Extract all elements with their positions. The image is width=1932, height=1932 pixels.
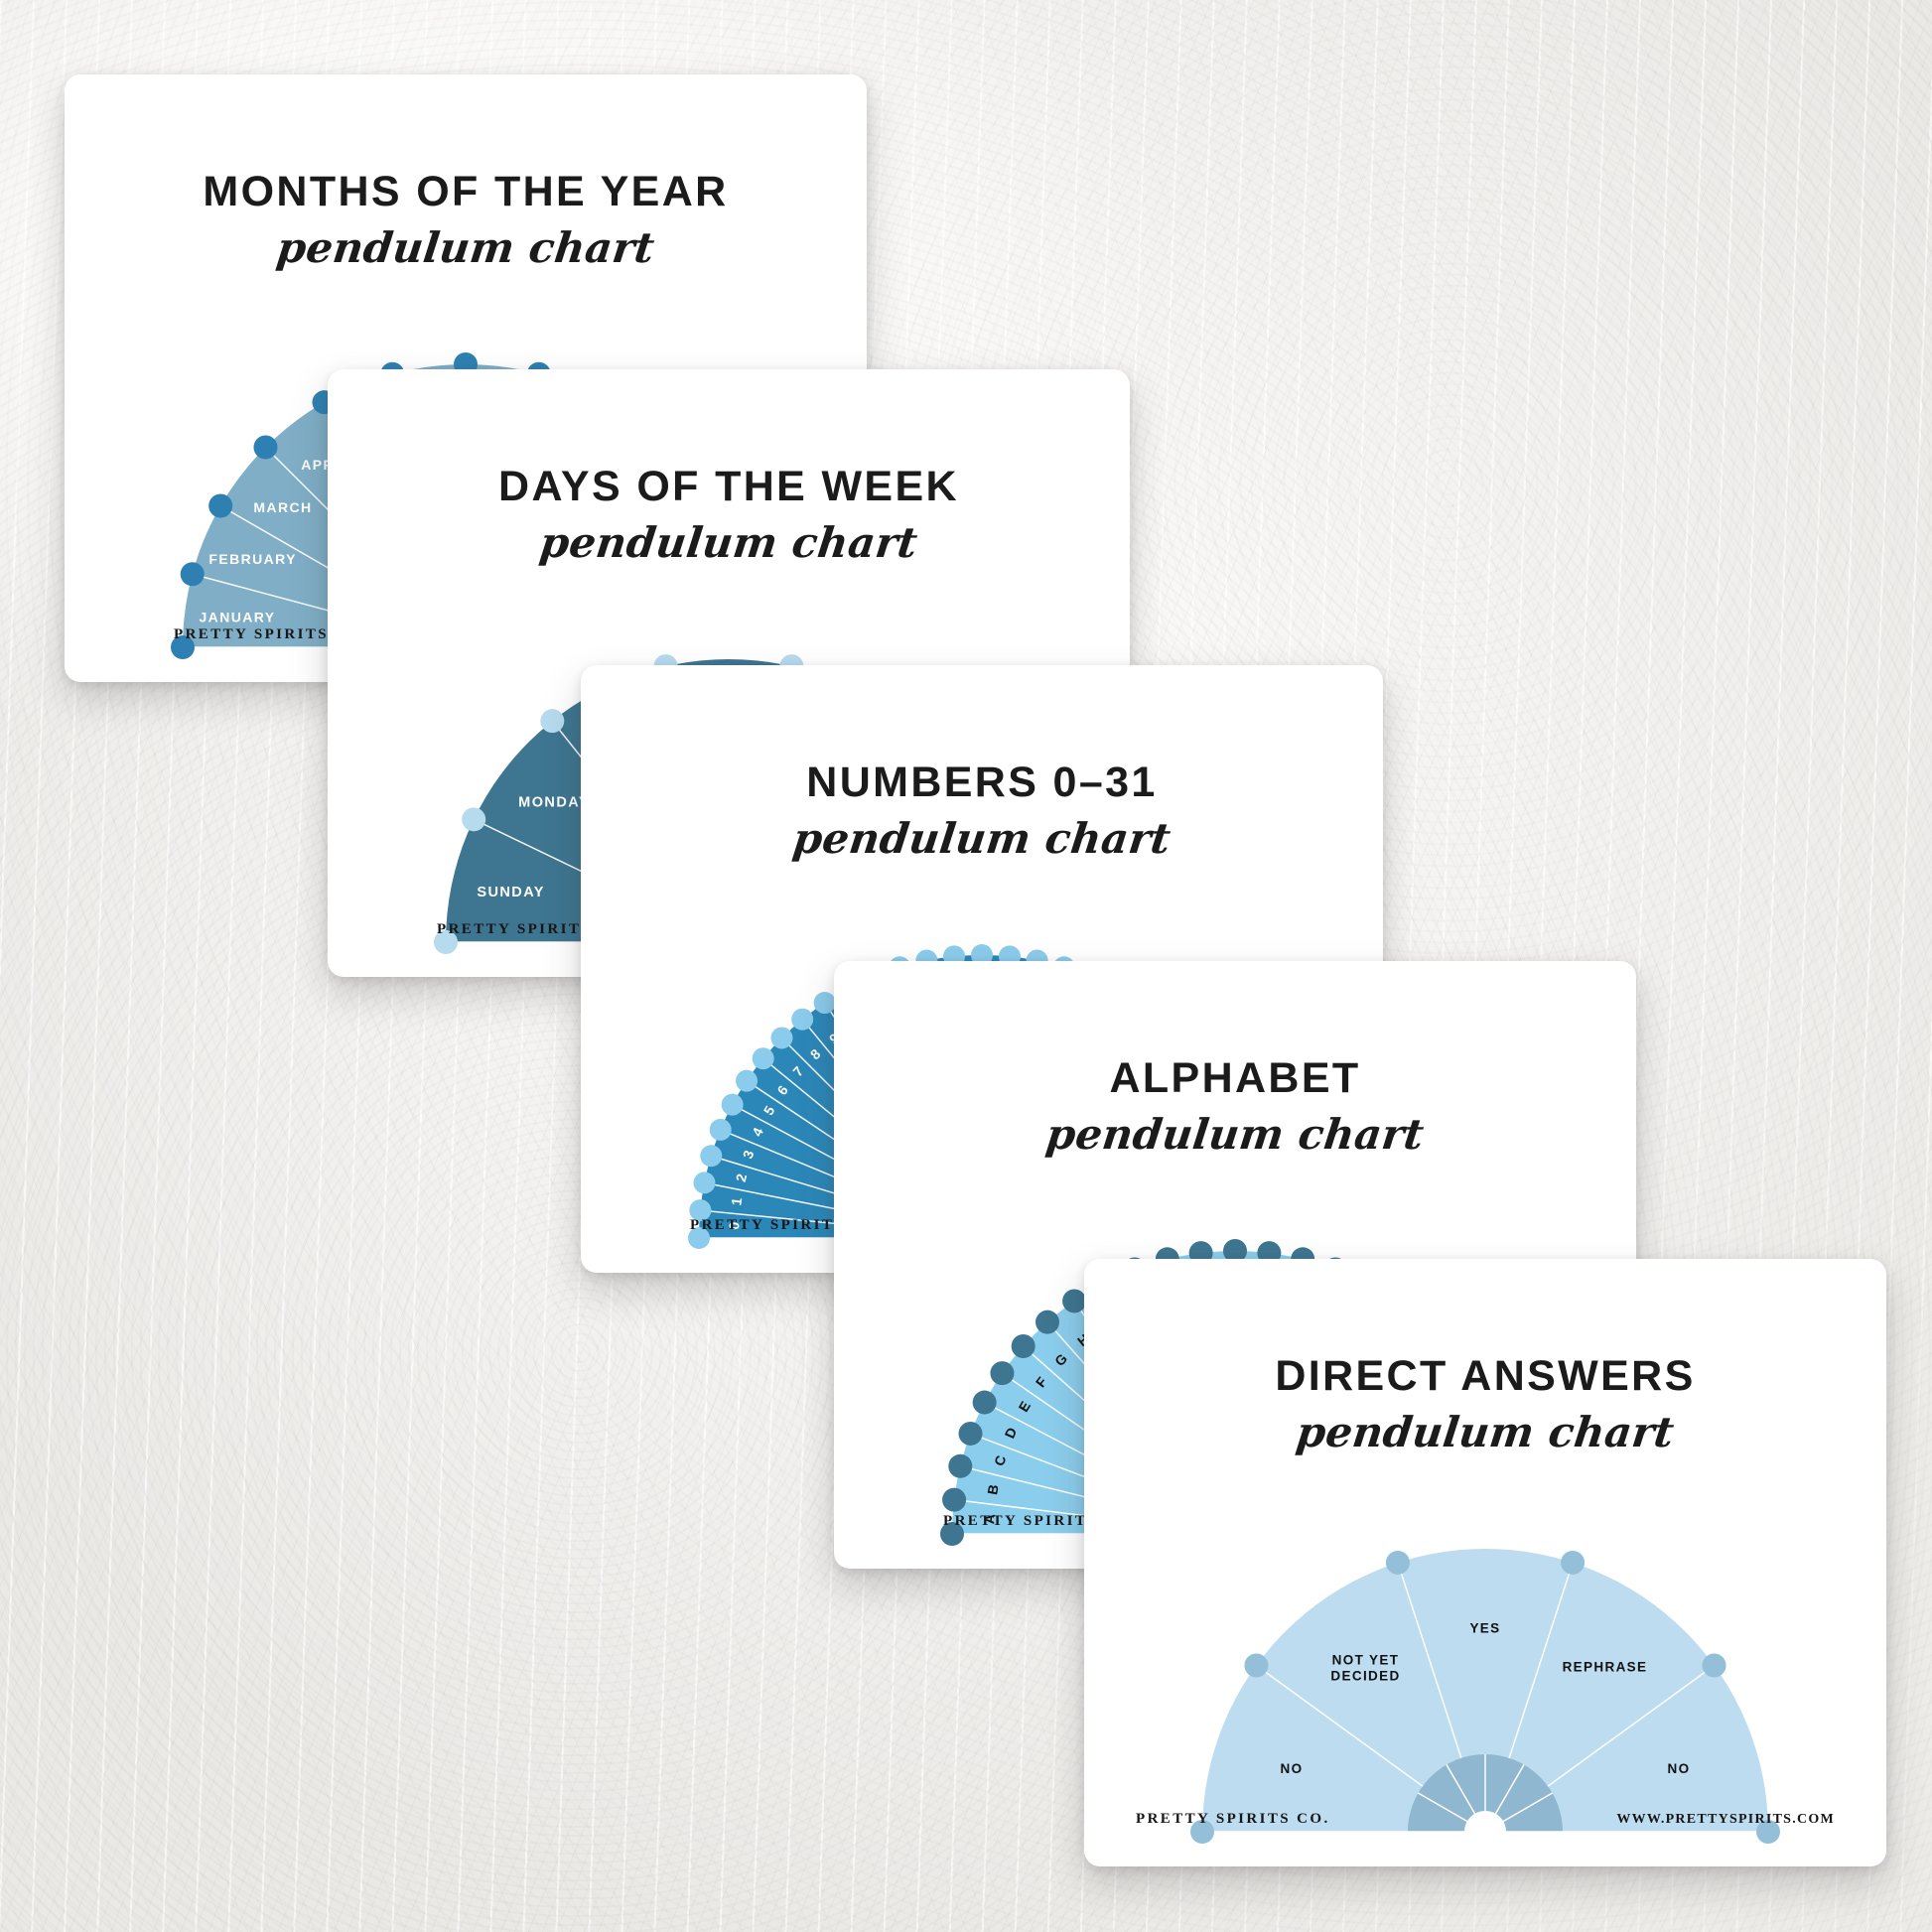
card-answers-footer-website: WWW.PRETTYSPIRITS.COM bbox=[1616, 1812, 1835, 1828]
card-months-title: MONTHS OF THE YEAR bbox=[65, 168, 867, 216]
card-answers-subtitle: pendulum chart bbox=[1084, 1408, 1886, 1456]
card-numbers-subtitle: pendulum chart bbox=[581, 814, 1383, 863]
svg-text:JANUARY: JANUARY bbox=[200, 610, 276, 625]
card-numbers-title: NUMBERS 0–31 bbox=[581, 759, 1383, 807]
svg-text:NO: NO bbox=[1281, 1761, 1304, 1776]
svg-text:NOT YETDECIDED: NOT YETDECIDED bbox=[1330, 1652, 1400, 1683]
card-answers-footer-brand: PRETTY SPIRITS CO. bbox=[1136, 1811, 1330, 1828]
card-answers-title: DIRECT ANSWERS bbox=[1084, 1352, 1886, 1401]
svg-text:YES: YES bbox=[1469, 1621, 1500, 1636]
svg-text:FEBRUARY: FEBRUARY bbox=[208, 551, 296, 567]
svg-text:MONDAY: MONDAY bbox=[518, 795, 590, 811]
svg-text:SUNDAY: SUNDAY bbox=[477, 885, 545, 900]
svg-text:MARCH: MARCH bbox=[253, 499, 312, 515]
svg-text:REPHRASE: REPHRASE bbox=[1563, 1660, 1648, 1675]
card-alphabet-title: ALPHABET bbox=[834, 1054, 1636, 1103]
card-months-subtitle: pendulum chart bbox=[65, 223, 867, 272]
answers-fan: NONOT YETDECIDEDYESREPHRASENO bbox=[1084, 1462, 1886, 1848]
card-days-subtitle: pendulum chart bbox=[328, 518, 1130, 567]
card-direct-answers[interactable]: DIRECT ANSWERS pendulum chart NONOT YETD… bbox=[1084, 1259, 1886, 1866]
svg-text:NO: NO bbox=[1667, 1761, 1690, 1776]
card-alphabet-subtitle: pendulum chart bbox=[834, 1110, 1636, 1159]
card-days-title: DAYS OF THE WEEK bbox=[328, 463, 1130, 511]
